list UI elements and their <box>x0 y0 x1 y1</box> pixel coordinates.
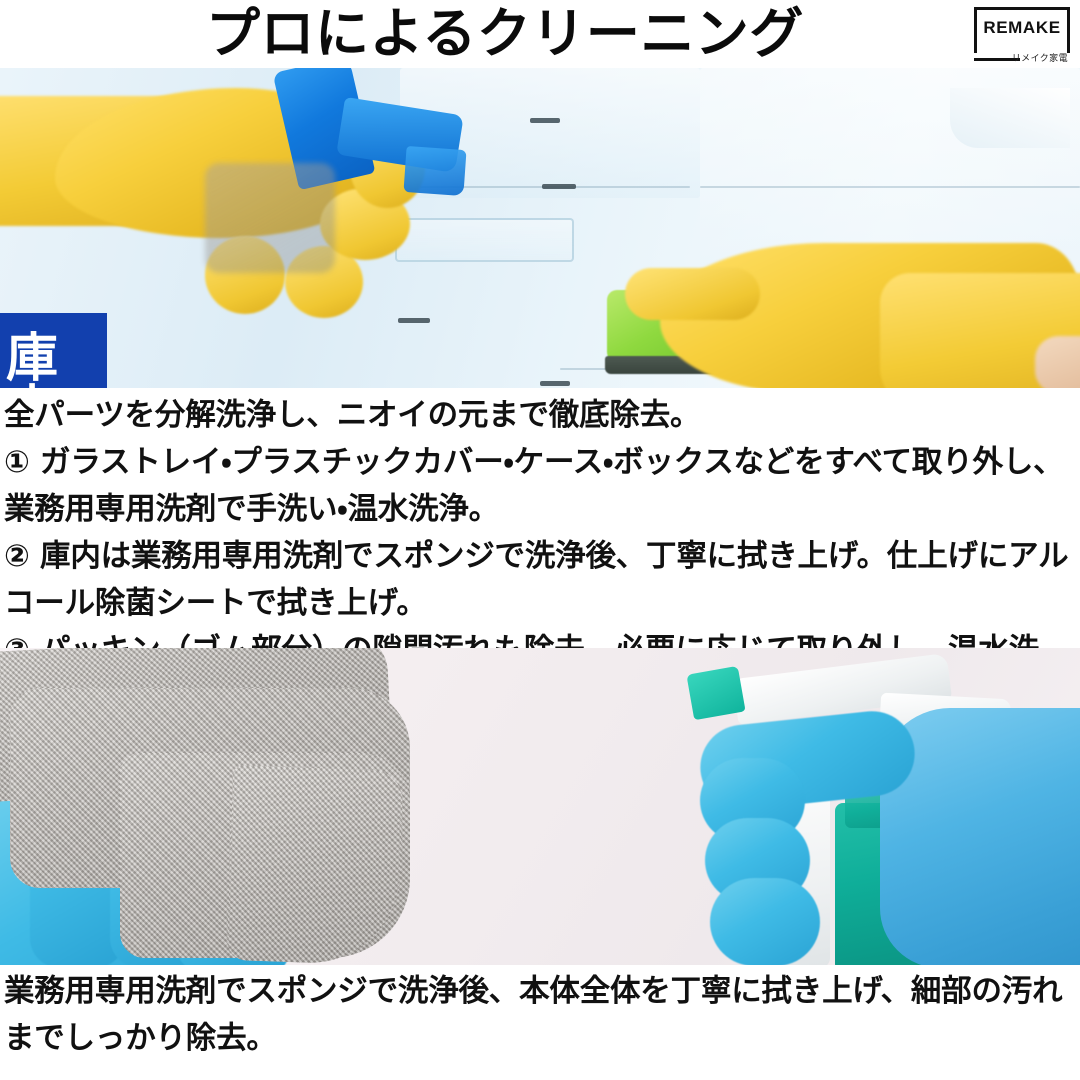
fridge-door-bin <box>950 88 1070 148</box>
remake-logo: REMAKE リメイク家電 <box>974 7 1070 61</box>
yellow-glove-finger-right <box>625 268 760 320</box>
interior-line-2: ① ガラストレイ・プラスチックカバー・ケース・ボックスなどをすべて取り外し、業務… <box>4 439 1076 533</box>
badge-interior: 庫内 <box>0 313 107 388</box>
logo-wordmark: REMAKE <box>974 18 1070 38</box>
fridge-tick-icon <box>542 184 576 189</box>
interior-line-3: ② 庫内は業務用専用洗剤でスポンジで洗浄後、丁寧に拭き上げ。仕上げにアルコール除… <box>4 533 1076 627</box>
infographic-page: プロによるクリーニング REMAKE リメイク家電 <box>0 0 1080 1080</box>
blue-glove-finger <box>710 878 820 965</box>
fridge-shelf-line <box>700 186 1080 188</box>
photo-exterior-cleaning: 外装 <box>0 648 1080 965</box>
fridge-tick-icon <box>540 381 570 386</box>
fridge-glass-shelf <box>395 218 574 262</box>
wrist-skin <box>1035 336 1080 388</box>
fridge-tick-icon <box>398 318 430 323</box>
exterior-description: 業務用専用洗剤でスポンジで洗浄後、本体全体を丁寧に拭き上げ、細部の汚れまでしっか… <box>0 968 1080 1062</box>
photo-interior-cleaning: 庫内 <box>0 68 1080 388</box>
header: プロによるクリーニング REMAKE リメイク家電 <box>0 0 1080 68</box>
spray-bottle-tip <box>403 146 466 196</box>
fridge-tick-icon <box>530 118 560 123</box>
spray-bottle-reflection <box>205 163 335 273</box>
spray-nozzle-cap <box>686 666 745 720</box>
interior-line-1: 全パーツを分解洗浄し、ニオイの元まで徹底除去。 <box>4 392 1076 439</box>
logo-subtitle: リメイク家電 <box>1012 51 1068 64</box>
exterior-line-1: 業務用専用洗剤でスポンジで洗浄後、本体全体を丁寧に拭き上げ、細部の汚れまでしっか… <box>4 968 1076 1062</box>
page-title: プロによるクリーニング <box>0 0 1080 68</box>
